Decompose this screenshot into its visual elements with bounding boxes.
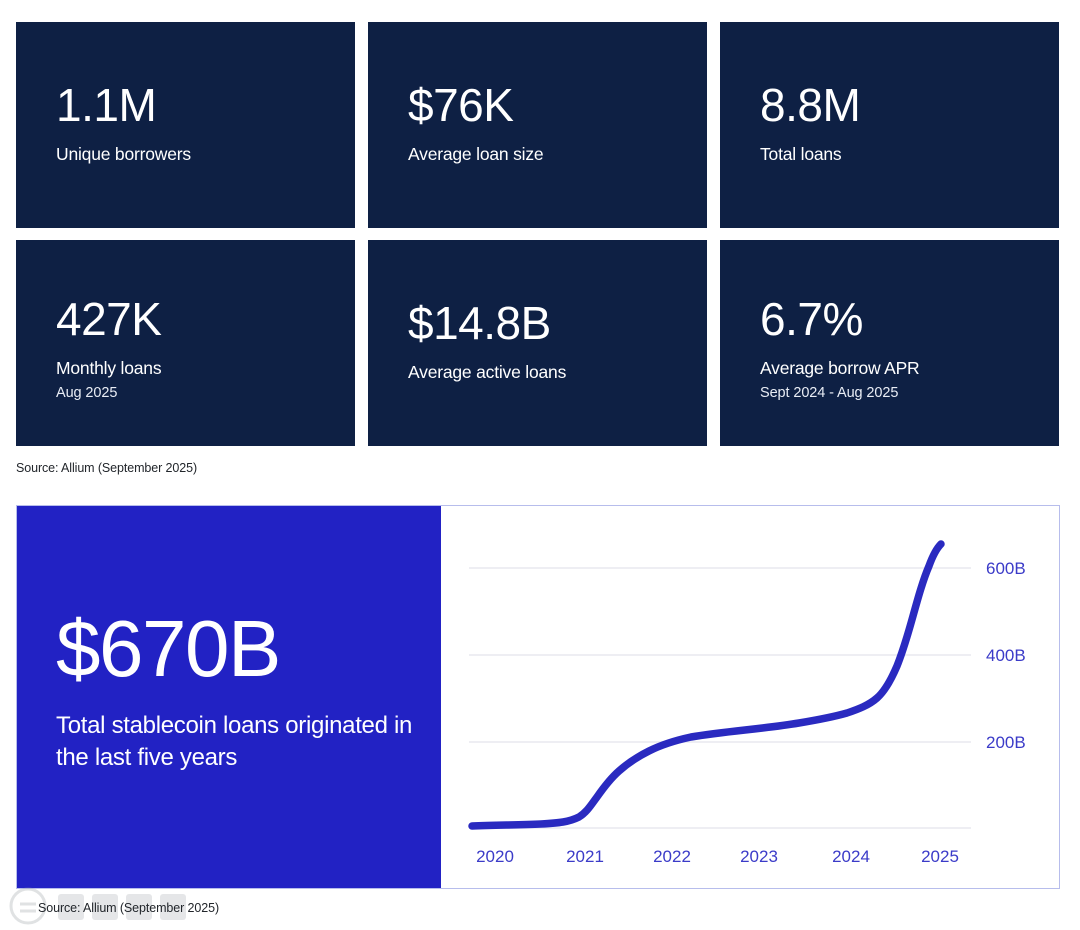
source-caption-top: Source: Allium (September 2025) bbox=[16, 461, 197, 475]
kpi-card-average-active-loans: $14.8B Average active loans bbox=[368, 240, 707, 446]
kpi-content: 1.1M Unique borrowers bbox=[56, 82, 337, 164]
kpi-value: 1.1M bbox=[56, 82, 337, 128]
kpi-card-unique-borrowers: 1.1M Unique borrowers bbox=[16, 22, 355, 228]
kpi-sublabel: Aug 2025 bbox=[56, 385, 337, 402]
kpi-label: Average active loans bbox=[408, 362, 689, 382]
kpi-label: Average loan size bbox=[408, 144, 689, 164]
kpi-card-monthly-loans: 427K Monthly loans Aug 2025 bbox=[16, 240, 355, 446]
kpi-label: Monthly loans bbox=[56, 358, 337, 378]
kpi-content: 8.8M Total loans bbox=[760, 82, 1041, 164]
kpi-content: $76K Average loan size bbox=[408, 82, 689, 164]
hero-highlight-block: $670B Total stablecoin loans originated … bbox=[17, 506, 441, 888]
kpi-content: $14.8B Average active loans bbox=[408, 300, 689, 382]
chart-line-series bbox=[472, 544, 941, 826]
kpi-value: 427K bbox=[56, 296, 337, 342]
hero-description: Total stablecoin loans originated in the… bbox=[56, 710, 427, 772]
chart-svg bbox=[441, 506, 1059, 888]
kpi-value: $14.8B bbox=[408, 300, 689, 346]
kpi-label: Average borrow APR bbox=[760, 358, 1041, 378]
kpi-content: 6.7% Average borrow APR Sept 2024 - Aug … bbox=[760, 296, 1041, 402]
source-caption-bottom: Source: Allium (September 2025) bbox=[38, 901, 219, 915]
kpi-sublabel: Sept 2024 - Aug 2025 bbox=[760, 385, 1041, 402]
hero-panel: $670B Total stablecoin loans originated … bbox=[16, 505, 1060, 889]
kpi-label: Unique borrowers bbox=[56, 144, 337, 164]
chart-gridlines bbox=[469, 568, 971, 828]
hero-content: $670B Total stablecoin loans originated … bbox=[56, 610, 427, 773]
kpi-label: Total loans bbox=[760, 144, 1041, 164]
kpi-card-average-borrow-apr: 6.7% Average borrow APR Sept 2024 - Aug … bbox=[720, 240, 1059, 446]
kpi-value: 8.8M bbox=[760, 82, 1041, 128]
kpi-value: 6.7% bbox=[760, 296, 1041, 342]
kpi-content: 427K Monthly loans Aug 2025 bbox=[56, 296, 337, 402]
hero-value: $670B bbox=[56, 610, 427, 688]
kpi-value: $76K bbox=[408, 82, 689, 128]
stablecoin-loans-line-chart: 600B 400B 200B 2020 2021 2022 2023 2024 … bbox=[441, 506, 1059, 888]
kpi-card-average-loan-size: $76K Average loan size bbox=[368, 22, 707, 228]
kpi-card-grid: 1.1M Unique borrowers $76K Average loan … bbox=[16, 22, 1062, 446]
kpi-card-total-loans: 8.8M Total loans bbox=[720, 22, 1059, 228]
